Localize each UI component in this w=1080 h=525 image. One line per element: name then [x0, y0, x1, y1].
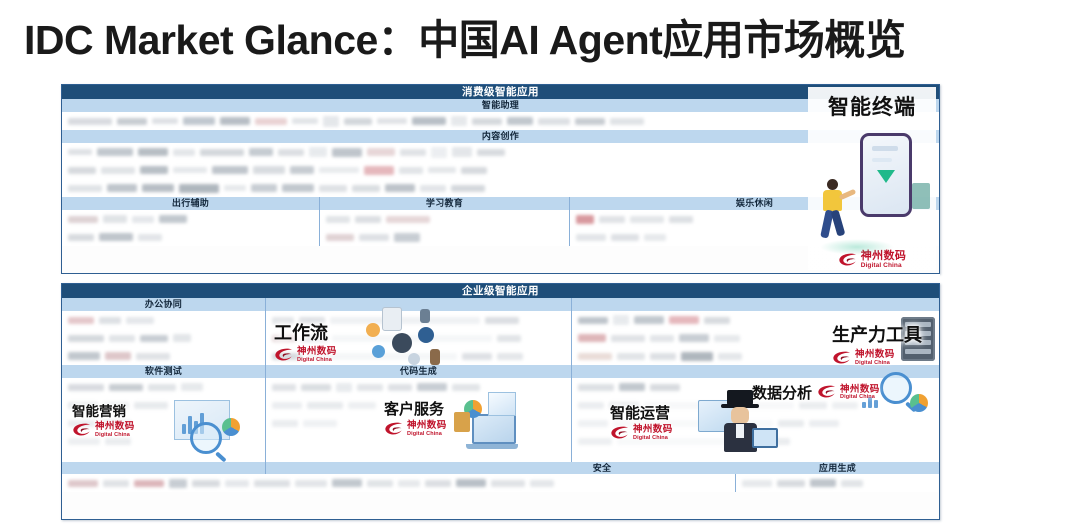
vendor-logo — [578, 334, 606, 342]
vendor-logo — [461, 167, 487, 174]
vendor-logo — [138, 148, 168, 156]
highlight-smart-terminal: 智能终端 — [808, 87, 936, 270]
vendor-logo — [272, 384, 296, 391]
workflow-illustration — [362, 305, 462, 375]
enterprise-row-3-body: 智能营销 神州数码 Digital China — [62, 396, 939, 462]
swoosh-icon — [72, 423, 92, 438]
logo-row — [320, 210, 569, 228]
vendor-logo — [385, 184, 415, 192]
vendor-logo — [352, 185, 380, 192]
vendor-logo — [456, 479, 486, 487]
vendor-logo — [477, 149, 505, 156]
vendor-logo — [295, 480, 327, 487]
vendor-logo — [714, 335, 740, 342]
vendor-logo — [282, 184, 314, 192]
enterprise-section-header: 企业级智能应用 — [62, 284, 939, 298]
section-separator — [61, 274, 940, 283]
vendor-logo — [742, 480, 772, 487]
person-body — [823, 190, 842, 211]
vendor-logo — [576, 234, 606, 241]
vendor-logo — [599, 216, 625, 223]
vendor-logo — [650, 353, 676, 360]
vendor-logo — [249, 148, 273, 156]
vendor-logo — [109, 384, 143, 391]
brand-name-cn: 神州数码 — [407, 421, 447, 431]
cell-customer-service: 客户服务 神州数码 Digital China — [265, 396, 571, 462]
column-software-testing: 软件测试 — [62, 365, 265, 378]
pie-chart-decoration — [222, 418, 240, 436]
brand-name-en: Digital China — [95, 433, 135, 439]
digital-china-logo: 神州数码 Digital China — [274, 347, 337, 363]
vendor-logo — [68, 317, 94, 324]
vendor-logo — [68, 149, 92, 155]
magnifier-handle — [215, 451, 226, 462]
highlight-label-productivity-tools: 生产力工具 — [832, 321, 922, 347]
logo-grid-learning-education — [319, 210, 569, 246]
brand-name-en: Digital China — [861, 263, 907, 270]
vendor-logo — [810, 479, 836, 487]
enterprise-section: 企业级智能应用 办公协同 — [61, 283, 940, 520]
vendor-logo — [220, 117, 250, 125]
laptop-screen — [472, 414, 516, 444]
subsection-label-travel-assist: 出行辅助 — [62, 197, 319, 210]
vendor-logo — [134, 402, 168, 409]
swoosh-icon — [838, 253, 858, 268]
logo-row — [62, 347, 265, 365]
vendor-logo — [152, 118, 178, 124]
vendor-logo — [575, 118, 605, 125]
subsection-label-office-collaboration: 办公协同 — [62, 298, 265, 311]
vendor-logo — [68, 438, 100, 445]
highlight-workflow: 工作流 神州数码 Digital China — [274, 319, 337, 363]
vendor-logo — [278, 149, 304, 156]
vendor-logo — [344, 118, 372, 125]
brand-text: 神州数码 Digital China — [407, 421, 447, 437]
vendor-logo — [681, 352, 713, 361]
digital-china-logo: 神州数码 Digital China — [610, 425, 673, 441]
vendor-logo — [101, 167, 135, 174]
vendor-logo — [103, 480, 129, 487]
vendor-logo — [364, 166, 394, 175]
vendor-logo — [105, 438, 131, 445]
subsection-label-productivity-blank — [572, 298, 939, 311]
vendor-logo — [491, 480, 525, 487]
vendor-logo — [451, 116, 467, 126]
vendor-logo — [255, 118, 287, 125]
vendor-logo — [613, 315, 629, 325]
vendor-logo — [272, 402, 302, 409]
logo-row — [62, 228, 319, 246]
swoosh-icon — [384, 422, 404, 437]
face — [731, 407, 749, 424]
cube-decoration — [912, 183, 930, 209]
person-head — [827, 179, 838, 190]
brand-name-en: Digital China — [297, 358, 337, 364]
tablet-icon — [752, 428, 778, 448]
logo-row — [62, 210, 319, 228]
vendor-logo — [394, 233, 420, 242]
laptop-base — [466, 444, 518, 449]
enterprise-row-1-body: 工作流 神州数码 Digital China — [62, 311, 939, 365]
highlight-label-smart-terminal: 智能终端 — [828, 91, 916, 121]
person-illustration — [818, 179, 852, 253]
vendor-logo — [619, 383, 645, 391]
vendor-logo — [538, 118, 570, 125]
digital-china-logo: 神州数码 Digital China — [72, 422, 135, 438]
vendor-logo — [292, 118, 318, 124]
vendor-logo — [159, 215, 187, 223]
vendor-logo — [472, 118, 502, 125]
vendor-logo — [225, 480, 249, 487]
vendor-logo — [173, 149, 195, 156]
vendor-logo — [272, 420, 298, 427]
vendor-logo — [326, 234, 354, 241]
vendor-logo — [777, 480, 805, 487]
vendor-logo — [377, 118, 407, 124]
vendor-logo — [630, 216, 664, 223]
vendor-logo — [388, 384, 412, 391]
vendor-logo — [417, 383, 447, 391]
subsection-label-software-testing: 软件测试 — [62, 365, 265, 378]
vendor-logo — [148, 384, 176, 391]
person-decoration — [454, 412, 470, 432]
vendor-logo — [173, 167, 207, 173]
vendor-logo — [452, 384, 480, 391]
vendor-logo — [254, 480, 290, 487]
vendor-logo — [200, 149, 244, 156]
vendor-logo — [634, 316, 664, 324]
vendor-logo — [578, 402, 604, 409]
column-row4-blank — [62, 462, 265, 474]
vendor-logo — [107, 184, 137, 192]
slide-canvas: IDC Market Glance：中国AI Agent应用市场概览 消费级智能… — [0, 0, 1080, 525]
vendor-logo — [103, 215, 127, 223]
column-productivity-tools — [571, 298, 939, 311]
vendor-logo — [179, 184, 219, 193]
vendor-logo — [307, 402, 343, 409]
logo-row — [62, 378, 265, 396]
vendor-logo — [578, 438, 612, 445]
market-glance-matrix: 消费级智能应用 智能助理 — [61, 84, 940, 520]
brand-text: 神州数码 Digital China — [297, 347, 337, 363]
logo-grid-app-generation — [735, 474, 938, 492]
vendor-logo — [140, 335, 168, 342]
vendor-logo — [183, 117, 215, 125]
logo-row — [320, 228, 569, 246]
vendor-logo — [431, 147, 447, 158]
digital-china-logo: 神州数码 Digital China — [384, 421, 447, 437]
vendor-logo — [99, 233, 133, 241]
vendor-logo — [669, 216, 693, 223]
vendor-logo — [452, 147, 472, 157]
arrow-icon — [877, 170, 895, 183]
vendor-logo — [169, 479, 187, 488]
vendor-logo — [398, 480, 420, 487]
vendor-logo — [309, 147, 327, 157]
vendor-logo — [97, 148, 133, 156]
vendor-logo — [181, 383, 203, 391]
logo-grid-travel-assist — [62, 210, 319, 246]
vendor-logo — [718, 353, 742, 360]
subsection-label-app-generation: 应用生成 — [736, 462, 939, 474]
highlight-label-intelligent-marketing: 智能营销 — [72, 400, 126, 420]
vendor-logo — [303, 420, 337, 427]
logo-grid-office-collaboration — [62, 311, 265, 365]
cell-intelligent-operations: 智能运营 神州数码 Digital China — [571, 396, 939, 462]
vendor-logo — [68, 335, 104, 342]
vendor-logo — [428, 167, 456, 173]
vendor-logo — [679, 334, 709, 342]
brand-text: 神州数码 Digital China — [855, 350, 895, 366]
vendor-logo — [99, 317, 121, 324]
digital-china-logo: 神州数码 Digital China — [817, 385, 880, 401]
brand-name-cn: 神州数码 — [95, 422, 135, 432]
brand-name-en: Digital China — [840, 395, 880, 401]
highlight-customer-service: 客户服务 神州数码 Digital China — [384, 398, 447, 437]
vendor-logo — [251, 184, 277, 192]
panel-decoration — [488, 392, 516, 416]
phone-illustration — [860, 133, 912, 217]
vendor-logo — [578, 384, 614, 391]
vendor-logo — [140, 166, 168, 174]
vendor-logo — [611, 234, 639, 241]
vendor-logo — [669, 316, 699, 324]
shirt — [736, 424, 744, 438]
logo-row — [62, 329, 265, 347]
vendor-logo — [704, 317, 730, 324]
enterprise-row-2-headers: 软件测试 代码生成 — [62, 365, 939, 378]
vendor-logo — [68, 118, 112, 125]
vendor-logo — [117, 118, 147, 125]
vendor-logo — [778, 420, 804, 427]
vendor-logo — [576, 215, 594, 224]
logo-grid-code-generation — [265, 378, 571, 396]
magnifier-icon — [880, 372, 912, 404]
brand-text: 神州数码 Digital China — [633, 425, 673, 441]
brand-text: 神州数码 Digital China — [95, 422, 135, 438]
vendor-logo — [301, 384, 331, 391]
brand-name-cn: 神州数码 — [633, 425, 673, 435]
vendor-logo — [173, 334, 191, 342]
vendor-logo — [355, 216, 381, 223]
highlight-productivity-tools: 生产力工具 神州数码 Digital China — [832, 321, 922, 366]
vendor-logo — [841, 480, 863, 487]
vendor-logo — [650, 384, 680, 391]
subsection-label-blank — [62, 462, 265, 474]
vendor-logo — [367, 148, 395, 156]
vendor-logo — [530, 480, 554, 487]
logo-grid-security — [62, 474, 735, 492]
vendor-logo — [126, 317, 154, 324]
vendor-logo — [507, 117, 533, 125]
logo-row — [736, 474, 938, 492]
highlight-label-workflow: 工作流 — [274, 319, 328, 345]
column-office-collaboration: 办公协同 — [62, 298, 265, 311]
vendor-logo — [68, 384, 104, 391]
person-leg — [831, 209, 846, 236]
vendor-logo — [68, 352, 100, 360]
highlight-label-intelligent-operations: 智能运营 — [610, 402, 670, 423]
vendor-logo — [357, 384, 383, 391]
vendor-logo — [68, 167, 96, 174]
vendor-logo — [332, 479, 362, 487]
vendor-logo — [326, 216, 350, 223]
vendor-logo — [224, 185, 246, 191]
brand-name-cn: 神州数码 — [840, 385, 880, 395]
page-title: IDC Market Glance：中国AI Agent应用市场概览 — [24, 14, 1064, 66]
brand-name-en: Digital China — [633, 436, 673, 442]
highlight-data-analysis: 数据分析 神州数码 Digital China — [752, 382, 880, 403]
subsection-label-learning-education: 学习教育 — [320, 197, 569, 210]
vendor-logo — [610, 118, 644, 125]
brand-name-en: Digital China — [407, 432, 447, 438]
person-arm — [839, 189, 857, 200]
consumer-section: 消费级智能应用 智能助理 — [61, 84, 940, 274]
highlight-intelligent-operations: 智能运营 神州数码 Digital China — [610, 402, 673, 441]
vendor-logo — [451, 185, 485, 192]
logo-row — [62, 474, 735, 492]
vendor-logo — [192, 480, 220, 487]
vendor-logo — [359, 234, 389, 241]
laptop-icon — [472, 414, 518, 449]
vendor-logo — [425, 480, 451, 487]
magnifier-ring — [880, 372, 912, 404]
top-hat-icon — [727, 390, 753, 405]
swoosh-icon — [274, 348, 294, 363]
brand-name-en: Digital China — [855, 361, 895, 367]
vendor-logo — [319, 185, 347, 192]
enterprise-row-4-body: 应用生成 — [62, 474, 939, 492]
vendor-logo — [142, 184, 174, 192]
vendor-logo — [617, 353, 645, 360]
vendor-logo — [336, 383, 352, 392]
magnifier-icon — [190, 422, 222, 454]
swoosh-icon — [610, 426, 630, 441]
swoosh-icon — [817, 385, 837, 400]
vendor-logo — [644, 234, 666, 241]
logo-row — [62, 311, 265, 329]
vendor-logo — [462, 353, 492, 360]
vendor-logo — [134, 480, 164, 487]
vendor-logo — [611, 335, 645, 342]
vendor-logo — [400, 149, 426, 156]
pie-chart-decoration — [910, 394, 928, 412]
magnifier-ring — [190, 422, 222, 454]
vendor-logo — [68, 234, 94, 241]
cell-intelligent-marketing: 智能营销 神州数码 Digital China — [62, 396, 265, 462]
brand-name-cn: 神州数码 — [297, 347, 337, 357]
vendor-logo — [485, 317, 519, 324]
digital-china-logo: 神州数码 Digital China — [832, 350, 895, 366]
vendor-logo — [497, 335, 521, 342]
vendor-logo — [809, 420, 839, 427]
vendor-logo — [68, 185, 102, 192]
vendor-logo — [323, 116, 339, 127]
vendor-logo — [348, 402, 376, 409]
vendor-logo — [319, 167, 359, 173]
swoosh-icon — [832, 351, 852, 366]
vendor-logo — [412, 117, 446, 125]
vendor-logo — [105, 352, 131, 360]
column-learning-education: 学习教育 — [319, 197, 569, 210]
app-generation-label-wrap: 应用生成 — [736, 462, 939, 474]
vendor-logo — [138, 234, 162, 241]
vendor-logo — [420, 185, 446, 192]
enterprise-row-1-headers: 办公协同 — [62, 298, 939, 311]
vendor-logo — [212, 166, 248, 174]
vendor-logo — [68, 480, 98, 487]
brand-text: 神州数码 Digital China — [840, 385, 880, 401]
vendor-logo — [68, 216, 98, 223]
vendor-logo — [253, 166, 285, 174]
highlight-intelligent-marketing: 智能营销 神州数码 Digital China — [72, 400, 135, 438]
vendor-logo — [132, 216, 154, 223]
vendor-logo — [497, 353, 523, 360]
vendor-logo — [136, 353, 170, 360]
vendor-logo — [578, 420, 608, 427]
vendor-logo — [650, 335, 674, 342]
vendor-logo — [399, 167, 423, 174]
vendor-logo — [367, 480, 393, 487]
vendor-logo — [578, 353, 612, 360]
vendor-logo — [109, 335, 135, 342]
vendor-logo — [578, 317, 608, 324]
vendor-logo — [332, 148, 362, 157]
logo-row — [266, 378, 571, 396]
highlight-label-customer-service: 客户服务 — [384, 398, 444, 419]
brand-name-cn: 神州数码 — [855, 350, 895, 360]
column-travel-assist: 出行辅助 — [62, 197, 319, 210]
vendor-logo — [290, 166, 314, 174]
vendor-logo — [386, 216, 430, 223]
logo-grid-software-testing — [62, 378, 265, 396]
